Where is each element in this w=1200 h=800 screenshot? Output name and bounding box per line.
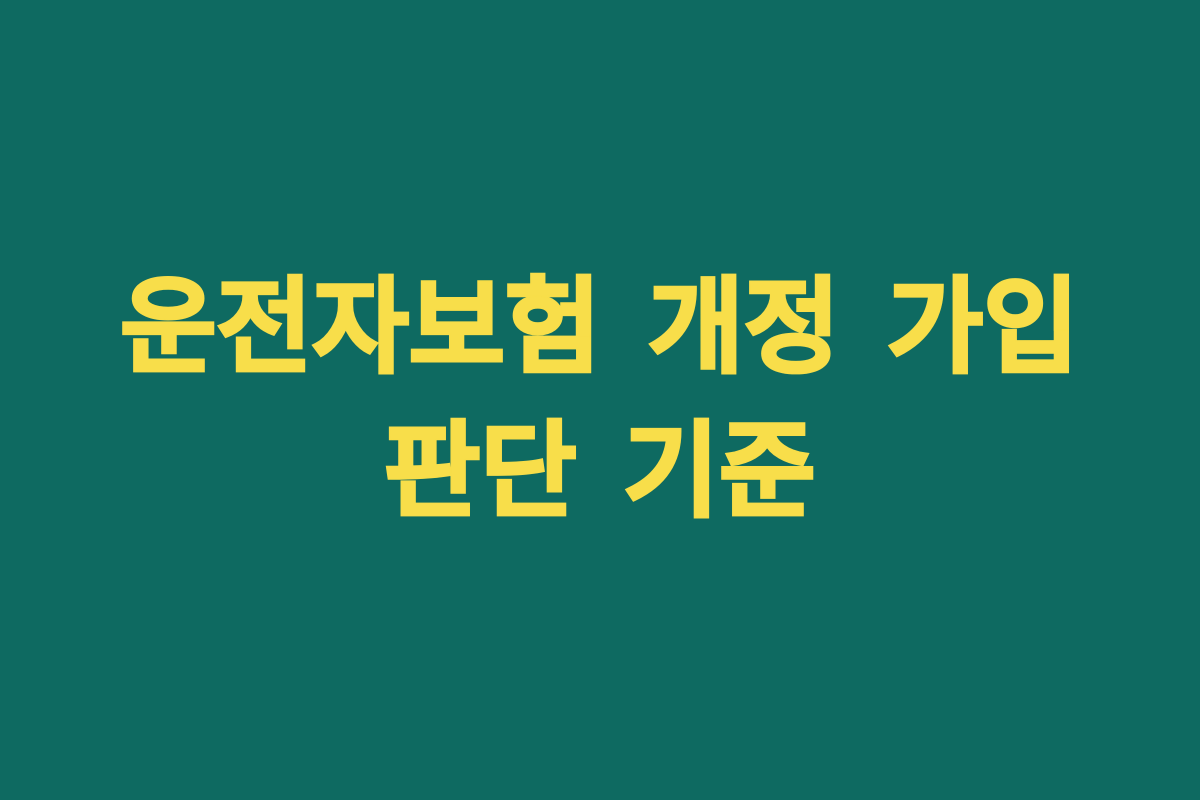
banner-canvas: 운전자보험 개정 가입 판단 기준 — [0, 0, 1200, 800]
banner-title: 운전자보험 개정 가입 판단 기준 — [85, 256, 1115, 543]
